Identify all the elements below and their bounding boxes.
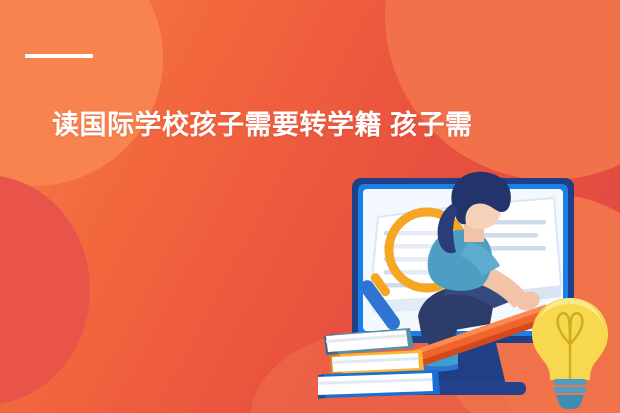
- background-blob-left-lower: [0, 175, 90, 405]
- student-studying-illustration: [318, 168, 620, 413]
- accent-rule: [25, 54, 93, 58]
- background-blob-right-top: [385, 0, 620, 180]
- background-blob-left-top: [0, 0, 163, 186]
- page-title: 读国际学校孩子需要转学籍 孩子需: [52, 108, 572, 142]
- promo-banner: 读国际学校孩子需要转学籍 孩子需: [0, 0, 620, 413]
- idea-lightbulb: [532, 298, 608, 409]
